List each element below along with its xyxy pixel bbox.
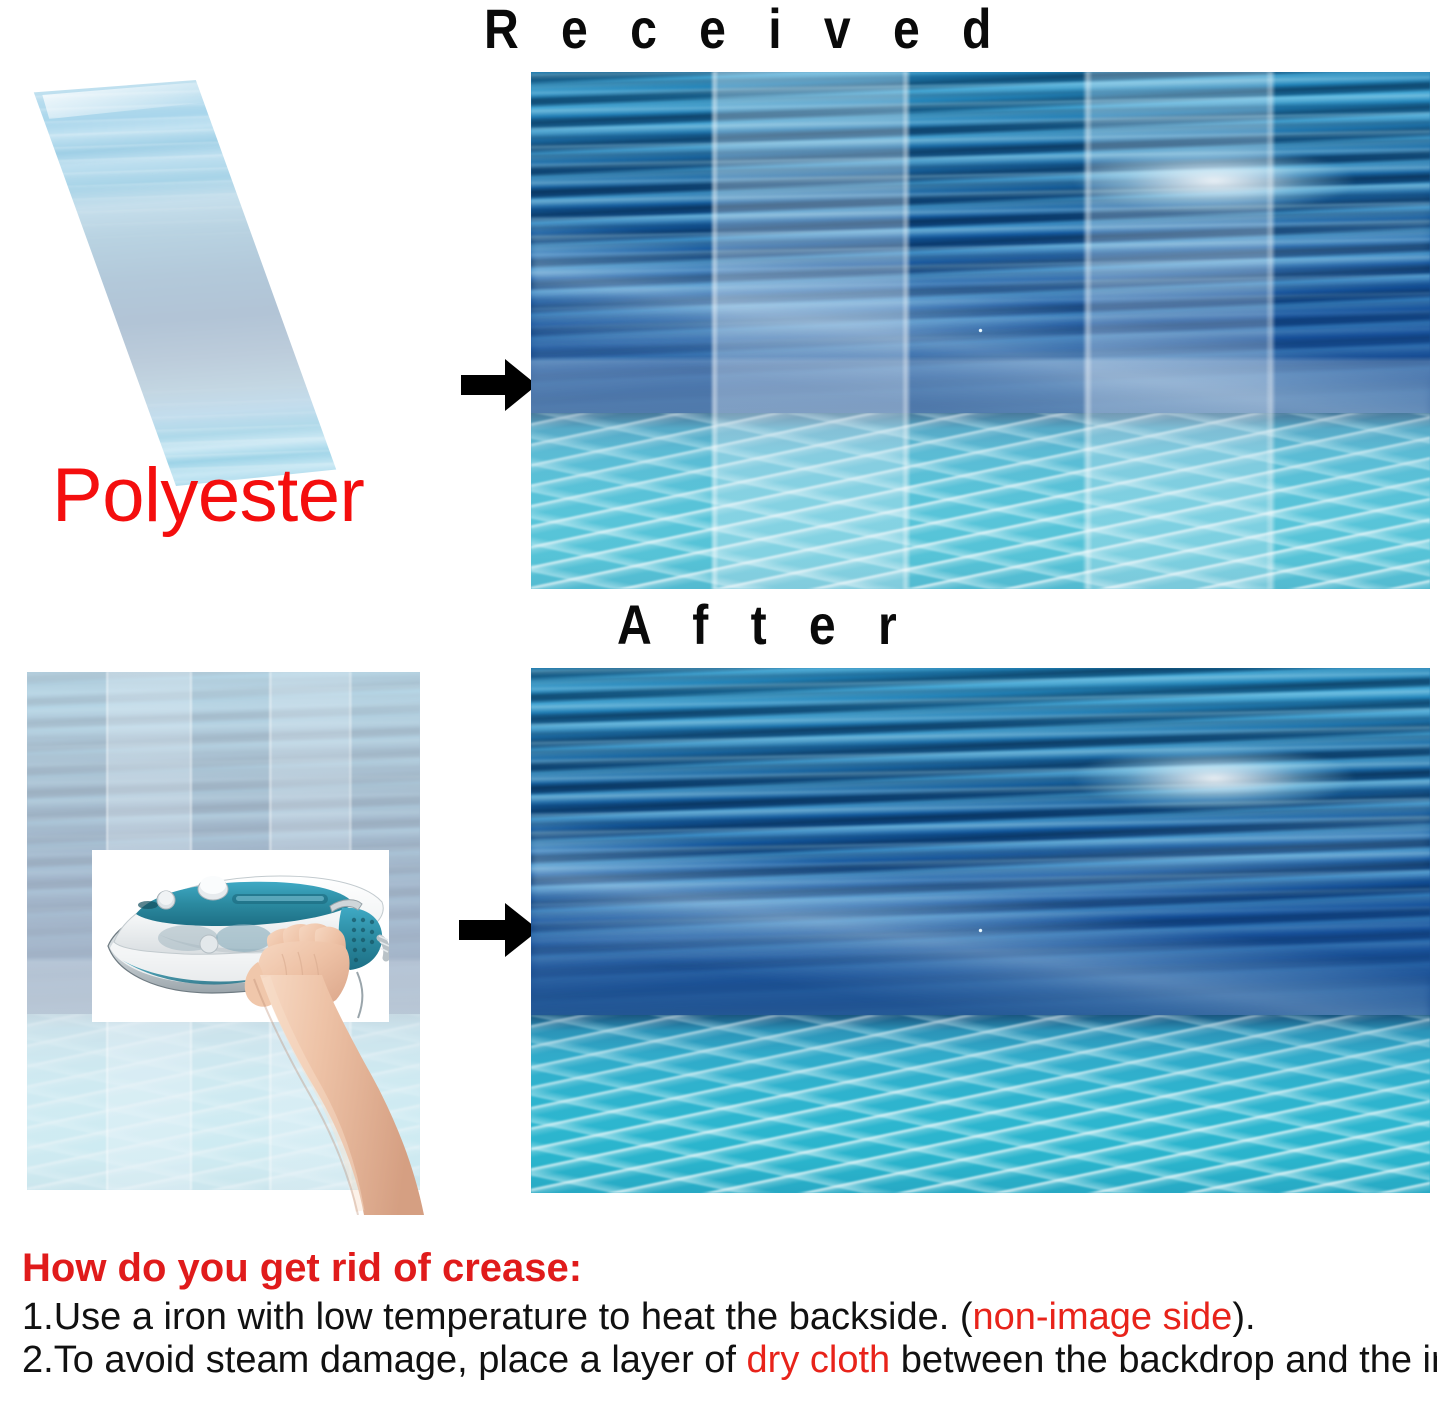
instruction-line-1: 1.Use a iron with low temperature to hea…	[22, 1296, 1422, 1339]
instruction-line-2: 2.To avoid steam damage, place a layer o…	[22, 1339, 1422, 1382]
instructions-block: How do you get rid of crease: 1.Use a ir…	[22, 1248, 1422, 1381]
instruction-line-2-after: between the backdrop and the iron.	[890, 1339, 1437, 1381]
instructions-title: How do you get rid of crease:	[22, 1248, 1422, 1288]
right-arrow-icon	[461, 359, 537, 411]
after-heading: A f t e r	[617, 592, 911, 657]
seabed-caustics-layer	[531, 1015, 1430, 1194]
steam-iron-icon	[92, 850, 389, 1022]
after-backdrop-image	[531, 668, 1430, 1193]
folded-fabric-image	[14, 78, 374, 488]
instruction-line-1-before: 1.Use a iron with low temperature to hea…	[22, 1296, 972, 1338]
instruction-line-1-highlight: non-image side	[972, 1296, 1232, 1338]
infographic-canvas: R e c e i v e d A f t e r Polyester	[0, 0, 1437, 1401]
right-arrow-icon	[459, 903, 539, 957]
polyester-label: Polyester	[52, 452, 364, 539]
iron-demo-card	[92, 850, 389, 1022]
instruction-line-1-after: ).	[1232, 1296, 1255, 1338]
instruction-line-2-before: 2.To avoid steam damage, place a layer o…	[22, 1339, 747, 1381]
received-heading: R e c e i v e d	[484, 0, 1006, 61]
instruction-line-2-highlight: dry cloth	[747, 1339, 891, 1381]
fold-crease-lines	[531, 72, 1430, 589]
fabric-ripple-texture	[14, 78, 374, 488]
received-backdrop-image	[531, 72, 1430, 589]
